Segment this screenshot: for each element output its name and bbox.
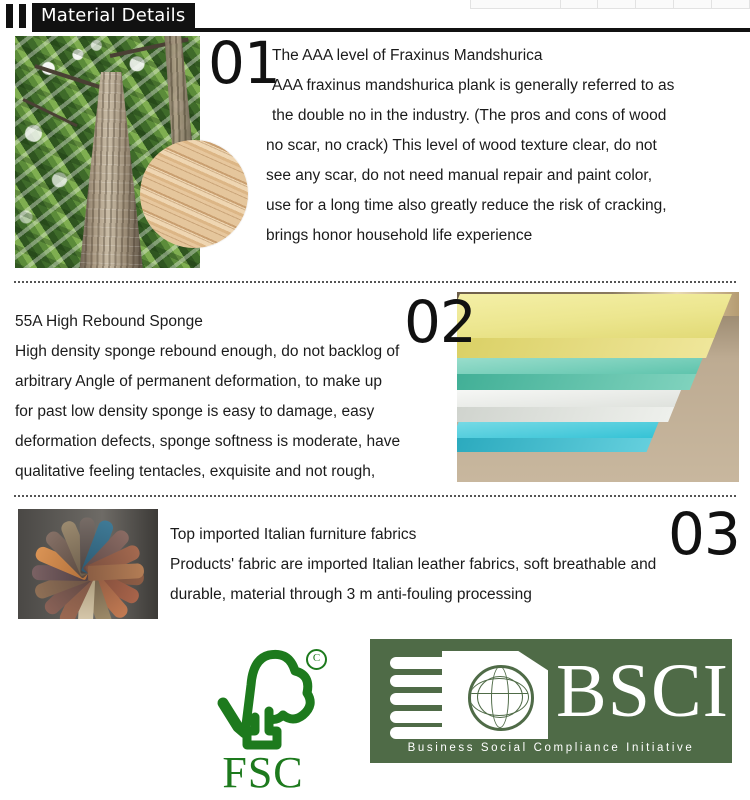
body-line: qualitative feeling tentacles, exquisite… [15,457,400,487]
bsci-label: BSCI [556,653,729,729]
body-line: see any scar, do not need manual repair … [266,161,667,191]
section-divider [14,281,736,283]
foam-sheet-yellow [457,294,732,358]
page-title-label: Material Details [41,7,185,25]
section-divider [14,495,736,497]
material-details-page: Material Details 01 The AAA level of Fra… [0,0,750,800]
section-01-heading: The AAA level of Fraxinus Mandshurica [272,41,543,71]
body-line: Products' fabric are imported Italian le… [170,550,656,580]
copyright-icon: C [306,649,327,670]
foam-sheet-cyan [457,420,659,452]
body-line: AAA fraxinus mandshurica plank is genera… [272,71,674,101]
header-bar-decoration [6,4,13,28]
fsc-logo: C FSC [193,645,333,795]
header-rule [32,28,750,32]
section-02-heading: 55A High Rebound Sponge [15,307,203,337]
section-03-heading-wrap: Top imported Italian furniture fabrics [170,520,416,550]
section-02-heading-wrap: 55A High Rebound Sponge [15,307,203,337]
body-line: brings honor household life experience [266,221,667,251]
fsc-label: FSC [193,751,333,795]
hand-globe-icon [390,651,550,739]
section-01-body: AAA fraxinus mandshurica plank is genera… [272,71,674,131]
body-line: use for a long time also greatly reduce … [266,191,667,221]
globe-icon [468,665,534,731]
header-bar-decoration [19,4,26,28]
section-01-body-cont: no scar, no crack) This level of wood te… [266,131,667,251]
section-01-text: The AAA level of Fraxinus Mandshurica [272,41,543,71]
bsci-logo: BSCI Business Social Compliance Initiati… [370,639,732,763]
wood-grain-circle [140,140,248,248]
section-number-01: 01 [208,34,280,92]
body-line: High density sponge rebound enough, do n… [15,337,400,367]
bsci-tagline: Business Social Compliance Initiative [370,742,732,754]
leather-swatch-fan-photo [18,509,158,619]
foam-sheet-teal [457,354,704,390]
section-02-body: High density sponge rebound enough, do n… [15,337,400,487]
section-03-heading: Top imported Italian furniture fabrics [170,520,416,550]
body-line: arbitrary Angle of permanent deformation… [15,367,400,397]
body-line: for past low density sponge is easy to d… [15,397,400,427]
foam-sheet-white [457,388,682,422]
body-line: no scar, no crack) This level of wood te… [266,131,667,161]
section-header: Material Details [0,3,750,29]
page-title: Material Details [32,3,195,28]
section-number-03: 03 [668,505,740,563]
body-line: durable, material through 3 m anti-fouli… [170,580,656,610]
section-number-02: 02 [404,293,476,351]
section-03-body: Products' fabric are imported Italian le… [170,550,656,610]
body-line: the double no in the industry. (The pros… [272,101,674,131]
stacked-foam-sheets-photo [457,292,739,482]
body-line: deformation defects, sponge softness is … [15,427,400,457]
